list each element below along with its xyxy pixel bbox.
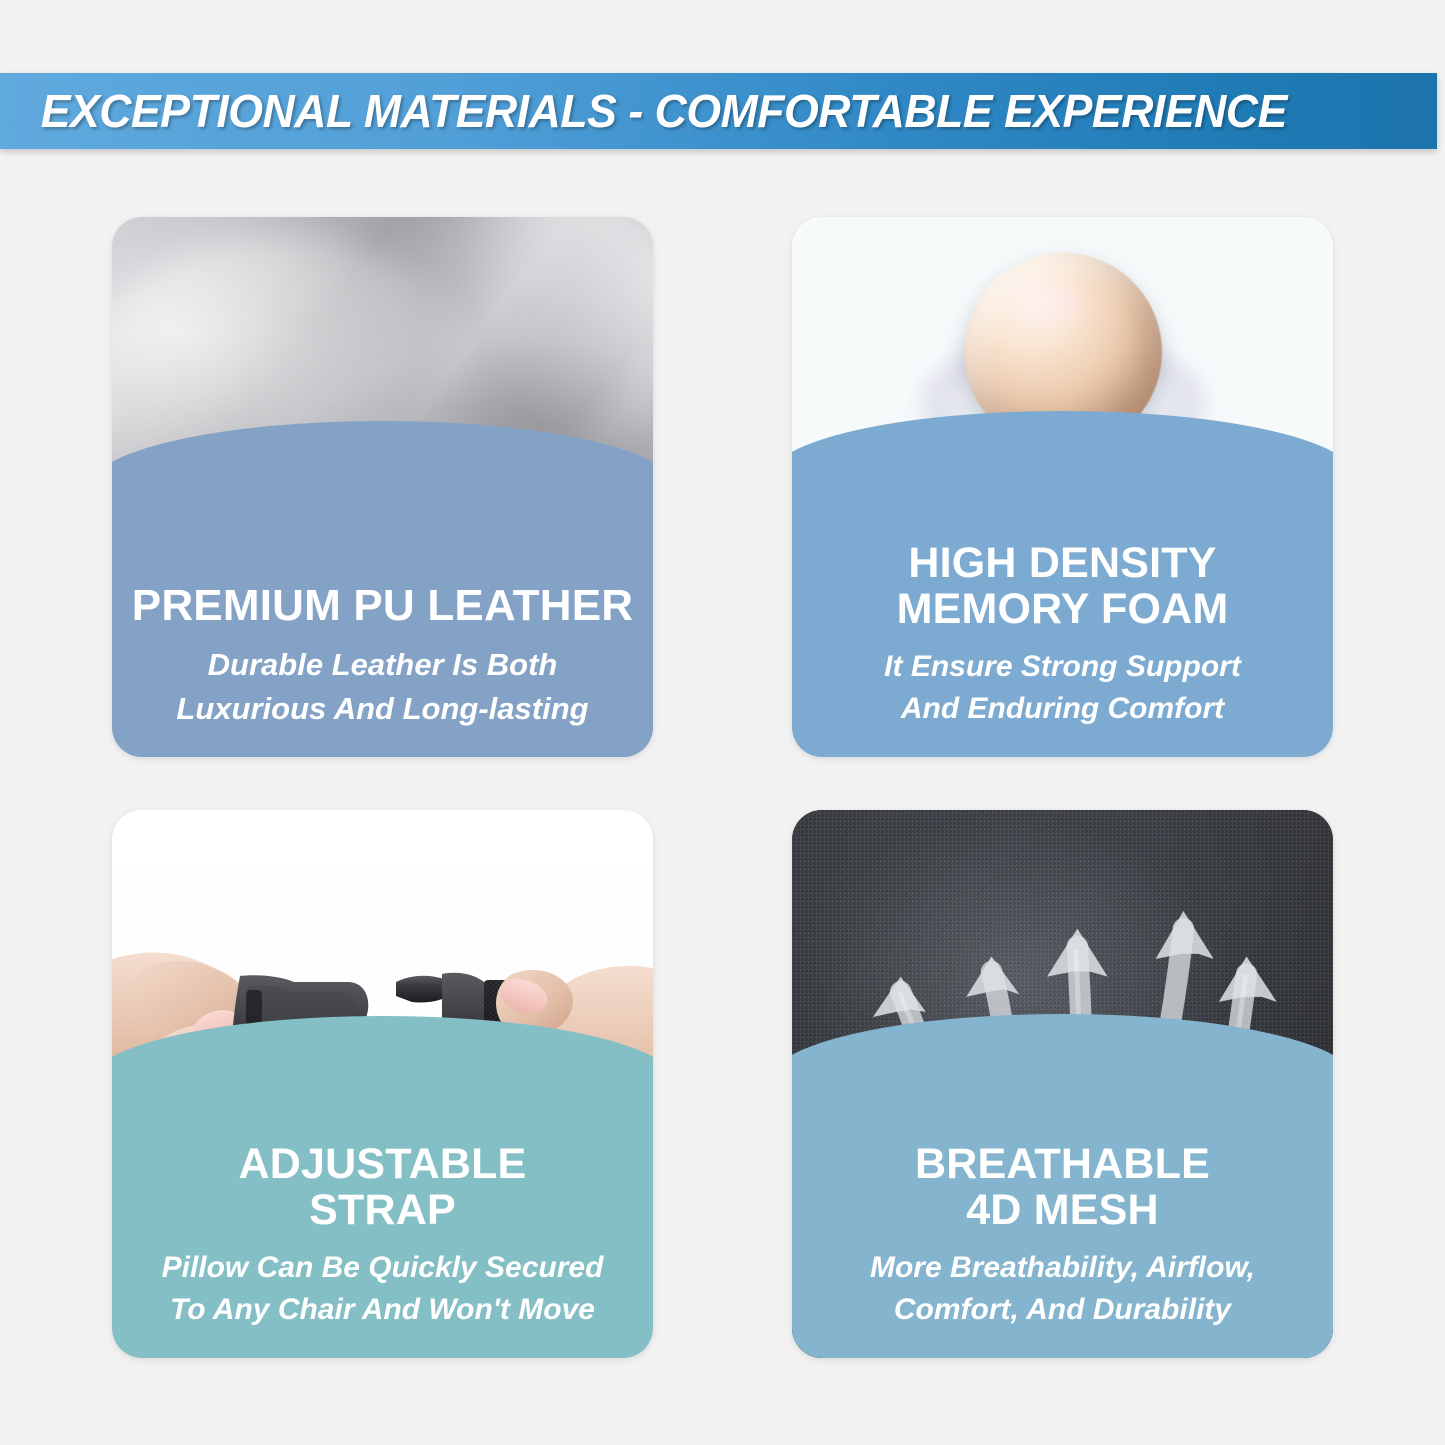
feature-card-adjustable-strap: ADJUSTABLE STRAP Pillow Can Be Quickly S… xyxy=(112,810,653,1358)
caption-arc-shape xyxy=(112,421,653,553)
card-title: HIGH DENSITY MEMORY FOAM xyxy=(810,540,1315,632)
caption-body: HIGH DENSITY MEMORY FOAM It Ensure Stron… xyxy=(810,540,1315,731)
card-subtitle: More Breathability, Airflow, Comfort, An… xyxy=(810,1247,1315,1332)
caption-body: BREATHABLE 4D MESH More Breathability, A… xyxy=(810,1141,1315,1332)
card-subtitle: It Ensure Strong Support And Enduring Co… xyxy=(810,646,1315,731)
header-banner: EXCEPTIONAL MATERIALS - COMFORTABLE EXPE… xyxy=(0,73,1437,149)
card-subtitle: Pillow Can Be Quickly Secured To Any Cha… xyxy=(130,1247,635,1332)
feature-card-grid: PREMIUM PU LEATHER Durable Leather Is Bo… xyxy=(112,217,1333,1358)
card-caption-panel: PREMIUM PU LEATHER Durable Leather Is Bo… xyxy=(112,485,653,757)
card-title: ADJUSTABLE STRAP xyxy=(130,1141,635,1233)
card-caption-panel: HIGH DENSITY MEMORY FOAM It Ensure Stron… xyxy=(792,475,1333,757)
caption-body: ADJUSTABLE STRAP Pillow Can Be Quickly S… xyxy=(130,1141,635,1332)
caption-body: PREMIUM PU LEATHER Durable Leather Is Bo… xyxy=(130,582,635,731)
card-title: BREATHABLE 4D MESH xyxy=(810,1141,1315,1233)
caption-arc-shape xyxy=(792,1014,1333,1146)
card-title: PREMIUM PU LEATHER xyxy=(130,582,635,629)
card-subtitle: Durable Leather Is Both Luxurious And Lo… xyxy=(130,643,635,731)
feature-card-premium-pu-leather: PREMIUM PU LEATHER Durable Leather Is Bo… xyxy=(112,217,653,757)
feature-card-breathable-4d-mesh: BREATHABLE 4D MESH More Breathability, A… xyxy=(792,810,1333,1358)
caption-arc-shape xyxy=(792,411,1333,543)
card-caption-panel: ADJUSTABLE STRAP Pillow Can Be Quickly S… xyxy=(112,1080,653,1358)
card-caption-panel: BREATHABLE 4D MESH More Breathability, A… xyxy=(792,1078,1333,1358)
banner-title: EXCEPTIONAL MATERIALS - COMFORTABLE EXPE… xyxy=(0,84,1287,138)
pearl-highlight xyxy=(1011,277,1090,332)
caption-arc-shape xyxy=(112,1016,653,1148)
feature-card-high-density-memory-foam: HIGH DENSITY MEMORY FOAM It Ensure Stron… xyxy=(792,217,1333,757)
